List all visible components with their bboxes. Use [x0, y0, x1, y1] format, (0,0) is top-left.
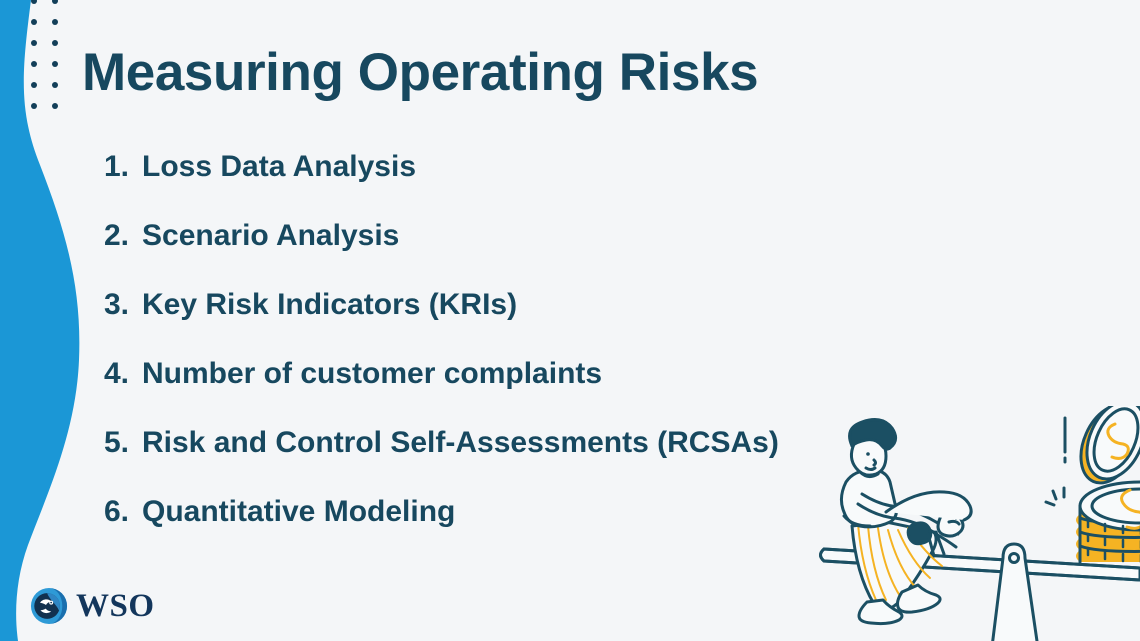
dot	[31, 61, 37, 67]
dot	[31, 19, 37, 25]
list-item-label: Loss Data Analysis	[142, 150, 416, 184]
list-item-label: Key Risk Indicators (KRIs)	[142, 288, 517, 322]
sparkle-icon	[1046, 488, 1064, 505]
wso-globe-icon	[30, 587, 68, 625]
measurement-methods-list: 1. Loss Data Analysis 2. Scenario Analys…	[104, 150, 904, 564]
list-item: 2. Scenario Analysis	[104, 219, 904, 288]
dot	[52, 19, 58, 25]
list-item-number: 6.	[104, 495, 142, 529]
dot	[52, 103, 58, 109]
coin-stack	[1076, 482, 1140, 562]
dot	[31, 40, 37, 46]
dot	[52, 0, 58, 4]
list-item-label: Quantitative Modeling	[142, 495, 455, 529]
dot	[31, 82, 37, 88]
dot	[52, 40, 58, 46]
wso-logo: WSO	[30, 587, 155, 625]
list-item-number: 3.	[104, 288, 142, 322]
seesaw-fulcrum	[991, 544, 1039, 641]
dot	[31, 0, 37, 4]
dot-grid	[28, 0, 68, 116]
list-item-label: Scenario Analysis	[142, 219, 399, 253]
wso-logo-text: WSO	[76, 590, 155, 623]
list-item: 3. Key Risk Indicators (KRIs)	[104, 288, 904, 357]
dot	[31, 103, 37, 109]
page-title: Measuring Operating Risks	[82, 44, 758, 102]
list-item: 1. Loss Data Analysis	[104, 150, 904, 219]
list-item-number: 1.	[104, 150, 142, 184]
list-item-label: Number of customer complaints	[142, 357, 602, 391]
dot	[52, 61, 58, 67]
falling-coin	[1070, 406, 1140, 492]
dot	[52, 82, 58, 88]
list-item: 6. Quantitative Modeling	[104, 495, 904, 564]
list-item-number: 4.	[104, 357, 142, 391]
list-item-number: 2.	[104, 219, 142, 253]
list-item-label: Risk and Control Self-Assessments (RCSAs…	[142, 426, 779, 460]
list-item: 5. Risk and Control Self-Assessments (RC…	[104, 426, 904, 495]
list-item-number: 5.	[104, 426, 142, 460]
list-item: 4. Number of customer complaints	[104, 357, 904, 426]
slide-canvas: Measuring Operating Risks 1. Loss Data A…	[0, 0, 1140, 641]
